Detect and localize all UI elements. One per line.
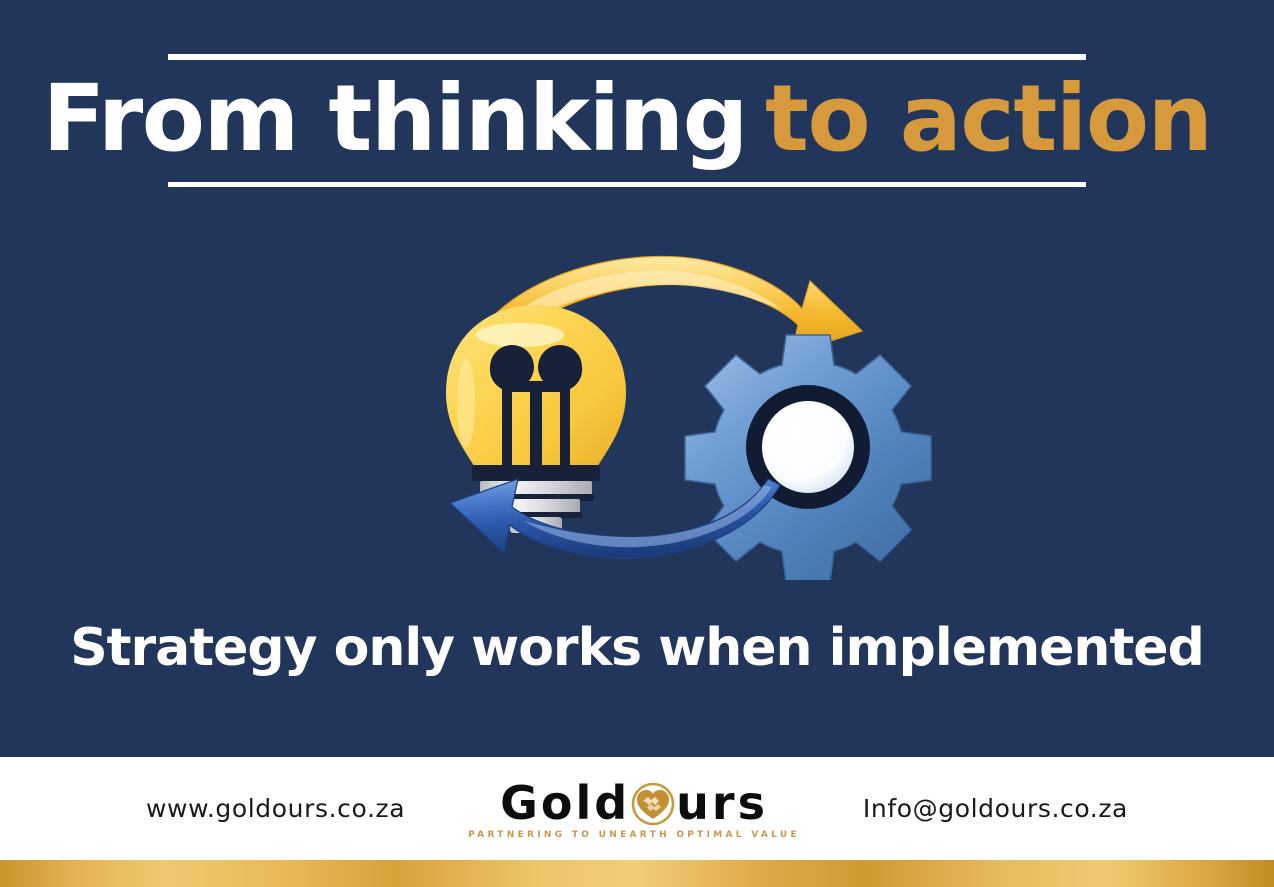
gold-accent-band: [0, 860, 1274, 887]
page-title: From thinking to action: [168, 60, 1086, 182]
logo-tagline: PARTNERING TO UNEARTH OPTIMAL VALUE: [468, 830, 800, 840]
footer-bar: www.goldours.co.za Gold urs PARTNERING T…: [0, 757, 1274, 860]
subheadline: Strategy only works when implemented: [0, 618, 1274, 678]
website-link[interactable]: www.goldours.co.za: [146, 794, 405, 823]
poster: From thinking to action: [0, 0, 1274, 887]
gear-icon: [685, 335, 931, 580]
logo-word-after: urs: [676, 780, 768, 826]
heart-handshake-icon: [631, 782, 675, 826]
cycle-graphic: [340, 235, 960, 580]
brand-logo[interactable]: Gold urs PARTNERING TO UNEARTH OPTIMAL V…: [468, 780, 800, 840]
headline-part-white: From thinking: [42, 73, 747, 165]
headline-part-gold: to action: [765, 73, 1212, 165]
logo-word-before: Gold: [500, 780, 630, 826]
email-link[interactable]: Info@goldours.co.za: [863, 794, 1128, 823]
headline-rule-bottom: [168, 182, 1086, 187]
hero-panel: From thinking to action: [0, 0, 1274, 757]
headline-block: From thinking to action: [168, 54, 1086, 187]
logo-wordmark: Gold urs: [500, 780, 768, 826]
